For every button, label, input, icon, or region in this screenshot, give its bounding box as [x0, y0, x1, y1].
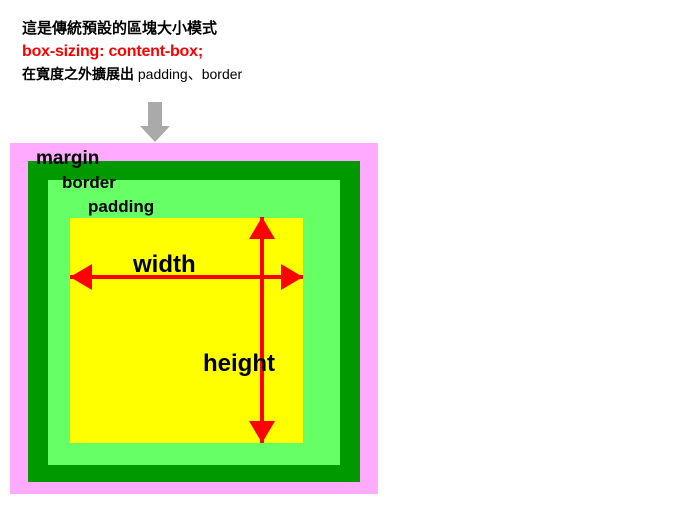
caption-line-code: box-sizing: content-box;	[22, 40, 352, 64]
arrow-head-down	[249, 421, 275, 443]
arrow-head-left	[70, 264, 92, 290]
height-dimension-arrow	[248, 217, 276, 443]
panel-border-box: 這是CSS3新的區塊大小模式 box-sizing: border-box; 在…	[400, 0, 700, 514]
arrow-head-up	[249, 217, 275, 239]
label-width: width	[133, 251, 196, 279]
label-margin: margin	[36, 148, 99, 170]
label-padding: padding	[88, 197, 154, 217]
caption-note-mono: padding、border	[138, 66, 242, 82]
label-border: border	[62, 173, 116, 193]
caption-line-title: 這是傳統預設的區塊大小模式	[22, 18, 352, 40]
arrow-head-right	[281, 264, 303, 290]
arrow-head	[140, 126, 170, 142]
arrow-line	[260, 217, 264, 443]
arrow-shaft	[148, 102, 162, 126]
caption-content-box: 這是傳統預設的區塊大小模式 box-sizing: content-box; 在…	[22, 18, 352, 85]
label-height: height	[203, 350, 275, 378]
caption-line-note: 在寬度之外擴展出 padding、border	[22, 64, 352, 85]
caption-note-prefix: 在寬度之外擴展出	[22, 66, 134, 82]
panel-content-box: 這是傳統預設的區塊大小模式 box-sizing: content-box; 在…	[0, 0, 400, 514]
